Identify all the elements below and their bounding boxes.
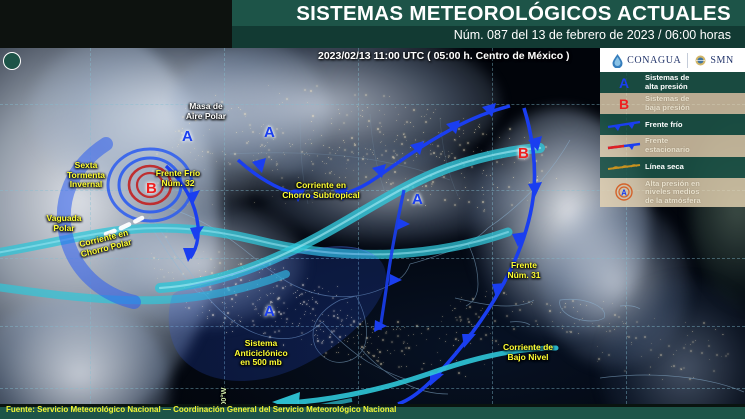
legend-B-glyph: B [619,96,629,112]
page-subtitle: Núm. 087 del 13 de febrero de 2023 / 06:… [454,28,731,42]
high-pressure-A-icon: A [603,74,645,91]
legend-row-mid-level-high: AAlta presión en niveles medios de la at… [600,178,745,208]
footer-source-text: Fuente: Servicio Meteorológico Nacional … [6,405,396,414]
legend-label-3: Frente estacionario [645,137,690,154]
legend-A-glyph: A [619,75,629,91]
page-title: SISTEMAS METEOROLÓGICOS ACTUALES [296,2,731,26]
cold-front-icon [603,116,645,133]
smn-emblem-icon [694,53,707,68]
legend-label-5: Alta presión en niveles medios de la atm… [645,180,701,206]
legend-row-dry-line: Línea seca [600,157,745,178]
footer-bar: Fuente: Servicio Meteorológico Nacional … [0,404,745,419]
smn-logo: SMN [694,53,733,68]
svg-text:A: A [621,189,627,198]
legend-row-high-pressure-A: ASistemas de alta presión [600,72,745,93]
page-header: SISTEMAS METEOROLÓGICOS ACTUALES Núm. 08… [0,0,745,48]
mid-level-high-icon: A [603,184,645,201]
logo-corner-badge [3,52,21,70]
header-left-spacer [0,0,232,48]
weather-map-screenshot: Masa de Aire PolarSexta Tormenta Inverna… [0,0,745,419]
legend-row-low-pressure-B: BSistemas de baja presión [600,93,745,114]
conagua-water-drop-icon [611,53,624,68]
logo-divider [687,53,688,68]
conagua-label: CONAGUA [627,55,681,66]
legend-panel: ASistemas de alta presiónBSistemas de ba… [600,72,745,207]
low-pressure-B-icon: B [603,95,645,112]
legend-label-2: Frente frío [645,121,683,130]
legend-label-0: Sistemas de alta presión [645,74,689,91]
mid-level-high-icon: A [611,183,637,201]
conagua-logo: CONAGUA [611,53,681,68]
legend-row-stationary-front: Frente estacionario [600,135,745,156]
legend-label-1: Sistemas de baja presión [645,95,690,112]
stationary-front-icon [603,137,645,154]
observation-timestamp: 2023/02/13 11:00 UTC ( 05:00 h. Centro d… [318,50,570,62]
dry-line-icon [603,159,645,176]
legend-label-4: Línea seca [645,163,684,172]
agency-logo-bar: CONAGUA SMN [600,48,745,72]
cold-front-icon [606,118,642,132]
stationary-front-icon [606,139,642,153]
legend-row-cold-front: Frente frío [600,114,745,135]
dry-line-icon [606,160,642,174]
smn-label: SMN [710,55,733,66]
